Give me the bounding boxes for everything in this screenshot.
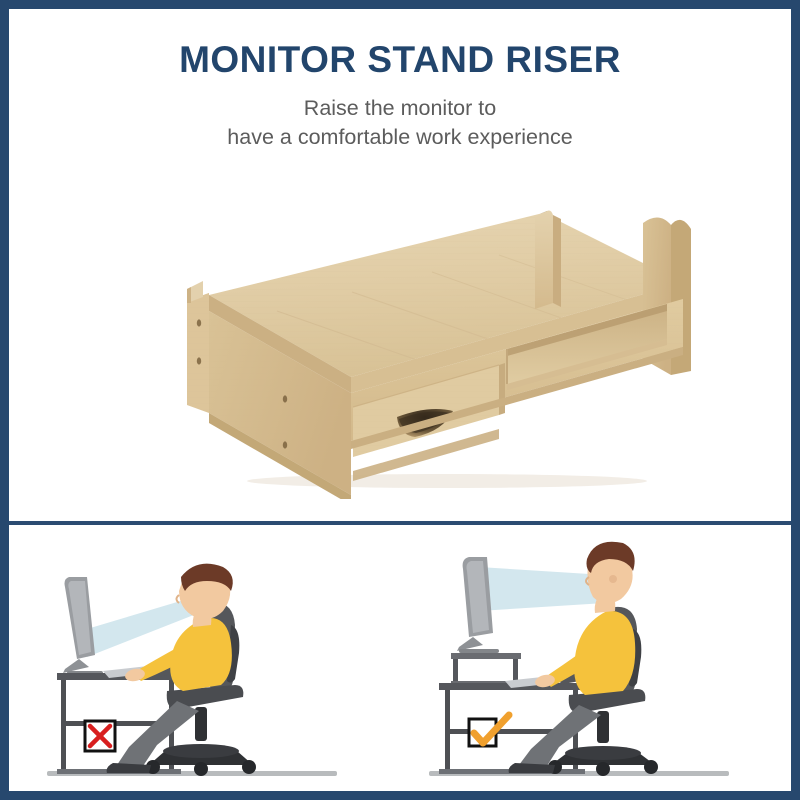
header: MONITOR STAND RISER Raise the monitor to…	[9, 41, 791, 152]
product-infographic-poster: MONITOR STAND RISER Raise the monitor to…	[0, 0, 800, 800]
subtitle-line-2: have a comfortable work experience	[9, 123, 791, 152]
product-image-stage	[9, 189, 791, 519]
scene-incorrect-posture	[17, 533, 387, 791]
subtitle-line-1: Raise the monitor to	[9, 94, 791, 123]
incorrect-posture-marker	[75, 715, 129, 759]
monitor-stand-riser-image	[147, 199, 707, 499]
section-divider	[9, 521, 791, 525]
subtitle: Raise the monitor to have a comfortable …	[9, 94, 791, 152]
correct-posture-marker	[461, 711, 515, 755]
page-title: MONITOR STAND RISER	[9, 41, 791, 80]
